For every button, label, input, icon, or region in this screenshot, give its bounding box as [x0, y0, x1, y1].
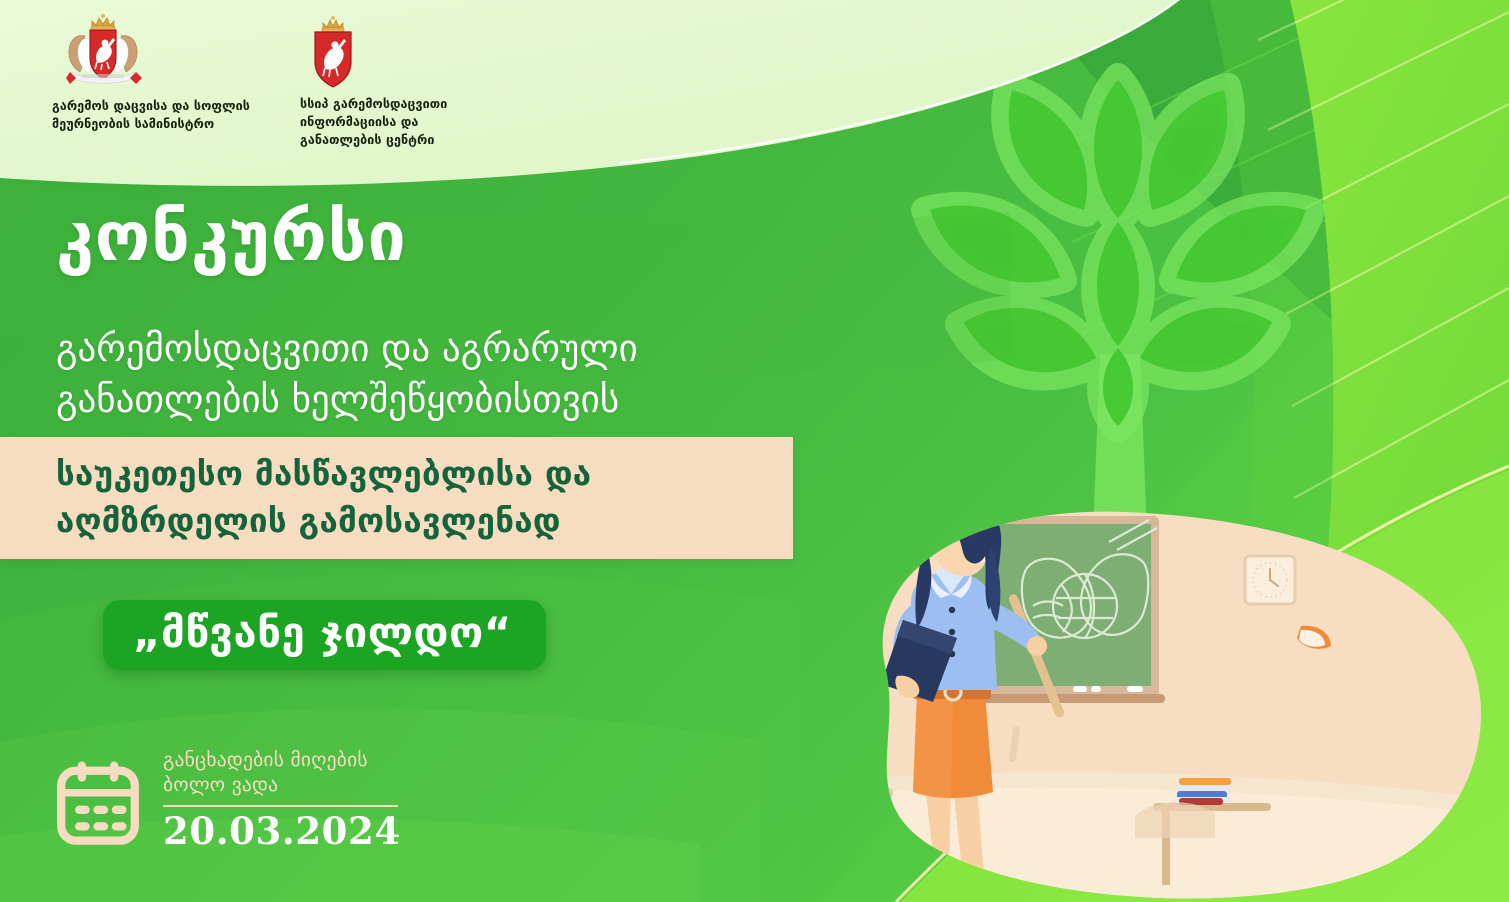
classroom-teacher-illustration [745, 498, 1509, 902]
cabinet [773, 788, 893, 902]
highlight-banner: საუკეთესო მასწავლებლისა და აღმზრდელის გა… [0, 437, 793, 559]
page-title: კონკურსი [56, 204, 407, 272]
book-stack [1173, 778, 1231, 805]
deadline-date: 20.03.2024 [163, 811, 401, 852]
page-subtitle: გარემოსდაცვითი და აგრარული განათლების ხე… [56, 323, 638, 426]
deadline-block: განცხადების მიღების ბოლო ვადა 20.03.2024 [52, 748, 401, 852]
calendar-icon [52, 756, 144, 848]
award-badge: „მწვანე ჯილდო“ [103, 600, 546, 670]
deadline-text: განცხადების მიღების ბოლო ვადა 20.03.2024 [163, 748, 401, 852]
highlight-banner-line-1: საუკეთესო მასწავლებლისა და [56, 451, 793, 498]
highlight-banner-line-2: აღმზრდელის გამოსავლენად [56, 498, 793, 545]
deadline-divider [163, 805, 398, 807]
poster-root: გარემოს დაცვისა და სოფლის მეურნეობის სამ… [0, 0, 1509, 902]
deadline-label: განცხადების მიღების ბოლო ვადა [163, 748, 401, 798]
potted-plant [764, 684, 880, 796]
wall-clock [1245, 556, 1295, 604]
chalk [1073, 686, 1087, 692]
award-badge-label: „მწვანე ჯილდო“ [133, 612, 512, 654]
